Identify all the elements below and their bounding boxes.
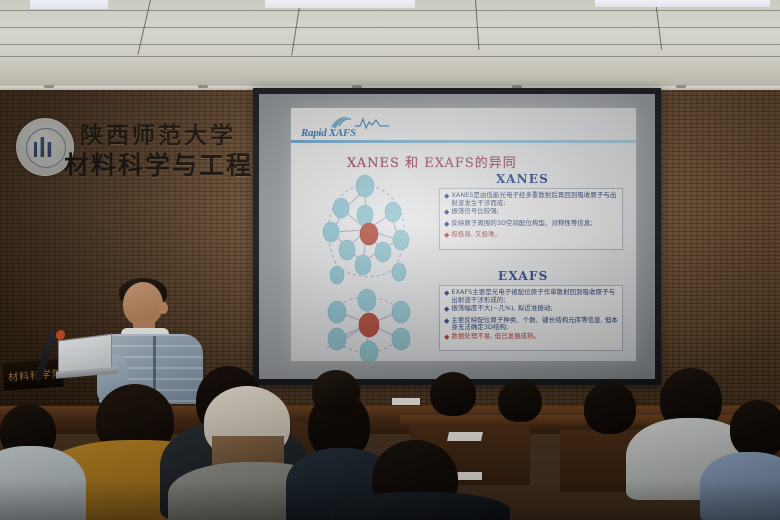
desk-paper — [447, 432, 483, 441]
desk-paper — [456, 472, 482, 480]
ceiling-light-panel — [30, 0, 108, 9]
presenter-ear — [159, 302, 168, 314]
ceiling-light-panel — [265, 0, 415, 8]
ceiling-grid — [0, 0, 780, 62]
lecture-hall-photo: 陕西师范大学 材料科学与工程学院 材料科学院 Rapid XAFS — [0, 0, 780, 520]
desk-paper — [392, 398, 420, 405]
ceiling — [0, 0, 780, 62]
ceiling-light-panel — [595, 0, 770, 7]
